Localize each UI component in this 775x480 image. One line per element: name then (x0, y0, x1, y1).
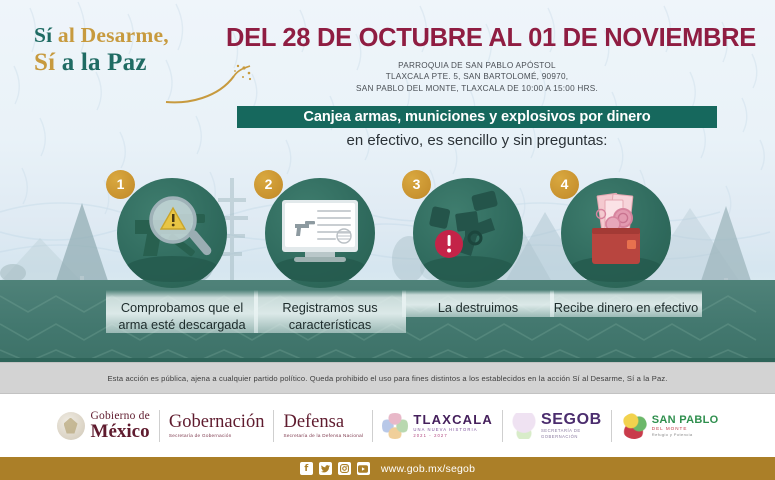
website-url[interactable]: www.gob.mx/segob (381, 463, 475, 475)
logo-tlaxcala: TLAXCALA UNA NUEVA HISTORIA 2021 - 2027 (373, 405, 502, 447)
twitter-bird-glyph (321, 465, 330, 473)
logo-segob: SEGOB SECRETARÍA DE GOBERNACIÓN (503, 405, 611, 447)
step-2-label: Registramos sus características (254, 290, 406, 333)
step-4-label: Recibe dinero en efectivo (550, 290, 702, 317)
logo-si-1: Sí (34, 23, 52, 47)
step-2-badge: 2 (254, 170, 283, 199)
step-3-label: La destruimos (402, 290, 554, 317)
logo-gobierno-de-mexico: Gobierno de México (48, 405, 159, 447)
gobierno-line1: Gobierno de (91, 410, 150, 422)
gobierno-line2: México (91, 422, 150, 442)
logo-san-pablo-del-monte: SAN PABLO DEL MONTE Refugio y Potencia (612, 405, 728, 447)
venue-line-3: SAN PABLO DEL MONTE, TLAXCALA DE 10:00 A… (226, 83, 728, 94)
logo-a-la-paz: a la Paz (62, 49, 147, 76)
sanpablo-name: SAN PABLO (652, 414, 719, 426)
step-4-badge: 4 (550, 170, 579, 199)
social-footer-bar: f www.gob.mx/segob (0, 457, 775, 480)
segob-sub2: GOBERNACIÓN (541, 434, 602, 440)
gobernacion-sub: Secretaría de Gobernación (169, 432, 265, 439)
defensa-name: Defensa (283, 413, 363, 432)
youtube-play-glyph (358, 465, 368, 473)
monitor-form-icon (265, 178, 375, 288)
instagram-camera-glyph (340, 464, 349, 473)
gobernacion-name: Gobernación (169, 413, 265, 432)
legal-disclaimer-text: Esta acción es pública, ajena a cualquie… (107, 374, 667, 383)
step-3-circle (413, 178, 523, 288)
tlaxcala-name: TLAXCALA (413, 413, 493, 427)
pine-tree-icon (700, 206, 752, 284)
tlaxcala-sub2: 2021 - 2027 (413, 433, 493, 439)
legal-disclaimer: Esta acción es pública, ajena a cualquie… (0, 362, 775, 394)
pine-tree-icon (56, 203, 108, 281)
event-date-range: DEL 28 DE OCTUBRE AL 01 DE NOVIEMBRE (226, 24, 728, 53)
mexico-eagle-seal-icon (57, 412, 85, 440)
segob-name: SEGOB (541, 411, 602, 428)
youtube-icon[interactable] (357, 462, 370, 475)
venue-line-1: PARROQUIA DE SAN PABLO APÓSTOL (226, 60, 728, 71)
instagram-icon[interactable] (338, 462, 351, 475)
logo-gobernacion: Gobernación Secretaría de Gobernación (160, 405, 274, 447)
segob-emblem-icon (512, 413, 536, 439)
disarmament-campaign-poster: Sí al Desarme, Sí a la Paz DEL 28 DE OCT… (0, 0, 775, 480)
institution-logo-bar: Gobierno de México Gobernación Secretarí… (0, 394, 775, 457)
step-3-badge: 3 (402, 170, 431, 199)
sanpablo-sub2: Refugio y Potencia (652, 432, 719, 438)
step-2-circle (265, 178, 375, 288)
twitter-icon[interactable] (319, 462, 332, 475)
tlaxcala-emblem-icon (382, 413, 408, 439)
step-1-badge: 1 (106, 170, 135, 199)
facebook-icon[interactable]: f (300, 462, 313, 475)
defensa-sub: Secretaría de la Defensa Nacional (283, 432, 363, 439)
venue-line-2: TLAXCALA PTE. 5, SAN BARTOLOMÉ, 90970, (226, 71, 728, 82)
step-4-circle (561, 178, 671, 288)
san-pablo-emblem-icon (621, 413, 647, 439)
step-1-circle (117, 178, 227, 288)
logo-si-2: Sí (34, 49, 55, 76)
step-1-label: Comprobamos que el arma esté descargada (106, 290, 258, 333)
logo-al-desarme: al Desarme, (58, 23, 169, 47)
venue-address: PARROQUIA DE SAN PABLO APÓSTOL TLAXCALA … (226, 60, 728, 94)
destroyed-weapon-alert-icon (413, 178, 523, 288)
exchange-banner: Canjea armas, municiones y explosivos po… (237, 106, 717, 128)
pistol-magnifier-icon (117, 178, 227, 288)
campaign-logo: Sí al Desarme, Sí a la Paz (34, 22, 249, 100)
exchange-banner-subtitle: en efectivo, es sencillo y sin preguntas… (237, 131, 717, 150)
logo-defensa: Defensa Secretaría de la Defensa Naciona… (274, 405, 372, 447)
wallet-cash-icon (561, 178, 671, 288)
